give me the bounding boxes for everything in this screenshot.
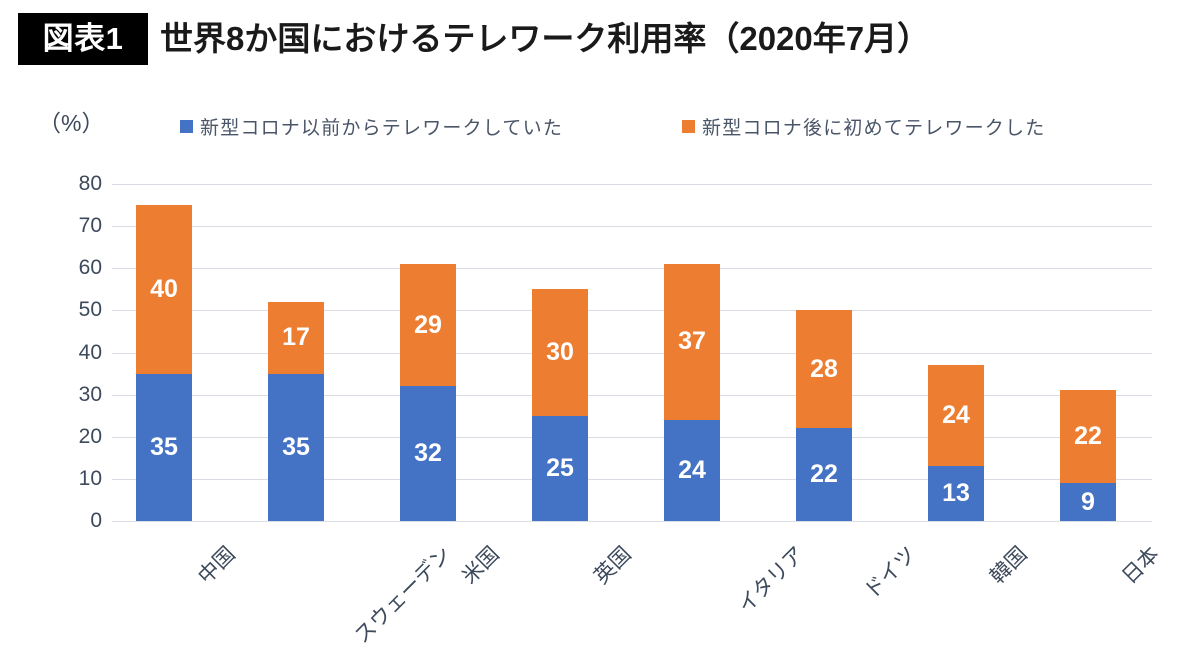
bar-value-label: 35 bbox=[150, 433, 178, 462]
bar-value-label: 30 bbox=[546, 338, 574, 367]
x-axis-tick-label: 日本 bbox=[1114, 539, 1165, 590]
y-axis-tick-label: 70 bbox=[40, 214, 102, 238]
y-axis-tick-label: 40 bbox=[40, 341, 102, 365]
bar-value-label: 9 bbox=[1081, 488, 1095, 517]
y-axis-tick-label: 0 bbox=[40, 509, 102, 533]
bar-segment-after-covid[interactable]: 22 bbox=[1060, 390, 1116, 483]
bar-segment-before-covid[interactable]: 22 bbox=[796, 428, 852, 521]
bar-segment-before-covid[interactable]: 35 bbox=[268, 374, 324, 521]
bar-segment-before-covid[interactable]: 24 bbox=[664, 420, 720, 521]
x-axis-tick-label: 韓国 bbox=[982, 539, 1033, 590]
y-axis-tick-label: 60 bbox=[40, 256, 102, 280]
y-axis-tick-label: 20 bbox=[40, 425, 102, 449]
y-axis-tick-label: 30 bbox=[40, 383, 102, 407]
bar-segment-before-covid[interactable]: 9 bbox=[1060, 483, 1116, 521]
bar-group[interactable]: 2228 bbox=[796, 0, 852, 670]
bar-value-label: 37 bbox=[678, 327, 706, 356]
bar-group[interactable]: 2437 bbox=[664, 0, 720, 670]
bar-group[interactable]: 3540 bbox=[136, 0, 192, 670]
y-axis-tick-label: 80 bbox=[40, 172, 102, 196]
y-axis-tick-label: 50 bbox=[40, 298, 102, 322]
bar-value-label: 32 bbox=[414, 439, 442, 468]
bar-value-label: 40 bbox=[150, 275, 178, 304]
bar-segment-before-covid[interactable]: 25 bbox=[532, 416, 588, 521]
x-axis-tick-label: ドイツ bbox=[856, 539, 922, 605]
bar-segment-after-covid[interactable]: 29 bbox=[400, 264, 456, 386]
x-axis-tick-label: 中国 bbox=[190, 539, 241, 590]
x-axis-tick-label: 米国 bbox=[454, 539, 505, 590]
x-axis-tick-label: 英国 bbox=[586, 539, 637, 590]
bar-group[interactable]: 3517 bbox=[268, 0, 324, 670]
bar-segment-after-covid[interactable]: 28 bbox=[796, 310, 852, 428]
bar-value-label: 22 bbox=[1074, 422, 1102, 451]
bar-value-label: 35 bbox=[282, 433, 310, 462]
bar-group[interactable]: 922 bbox=[1060, 0, 1116, 670]
bar-group[interactable]: 3229 bbox=[400, 0, 456, 670]
bar-segment-before-covid[interactable]: 35 bbox=[136, 374, 192, 521]
bar-value-label: 29 bbox=[414, 311, 442, 340]
bar-segment-after-covid[interactable]: 37 bbox=[664, 264, 720, 420]
bar-segment-after-covid[interactable]: 17 bbox=[268, 302, 324, 374]
bar-group[interactable]: 1324 bbox=[928, 0, 984, 670]
bar-value-label: 24 bbox=[942, 401, 970, 430]
bar-segment-after-covid[interactable]: 40 bbox=[136, 205, 192, 374]
bar-value-label: 24 bbox=[678, 456, 706, 485]
bar-value-label: 25 bbox=[546, 454, 574, 483]
bar-segment-after-covid[interactable]: 30 bbox=[532, 289, 588, 415]
bar-value-label: 28 bbox=[810, 355, 838, 384]
bar-group[interactable]: 2530 bbox=[532, 0, 588, 670]
bar-value-label: 17 bbox=[282, 323, 310, 352]
bar-value-label: 13 bbox=[942, 479, 970, 508]
bar-value-label: 22 bbox=[810, 460, 838, 489]
bar-segment-after-covid[interactable]: 24 bbox=[928, 365, 984, 466]
y-axis-tick-label: 10 bbox=[40, 467, 102, 491]
chart-plot-area: 010203040506070803540中国3517スウェーデン3229米国2… bbox=[0, 0, 1200, 670]
bar-segment-before-covid[interactable]: 13 bbox=[928, 466, 984, 521]
bar-segment-before-covid[interactable]: 32 bbox=[400, 386, 456, 521]
